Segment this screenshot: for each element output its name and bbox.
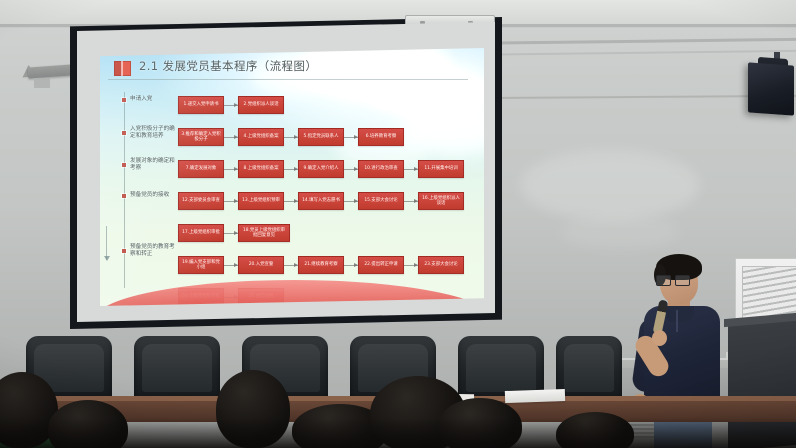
flow-node: 7.确定发展对象 <box>178 160 224 178</box>
flow-row-0: 1.递交入党申请书 2.党组织派人谈话 <box>178 96 284 114</box>
flow-node: 14.填写入党志愿书 <box>298 192 344 210</box>
chair <box>134 336 220 402</box>
photo-stage: 2.1 发展党员基本程序（流程图） 申请入党 入党积极分子的确定和教育培养 发展… <box>0 0 796 448</box>
flow-node: 13.上级党组织预审 <box>238 192 284 210</box>
flow-node: 23.支部大会讨论 <box>418 256 464 274</box>
flow-node: 20.入党宣誓 <box>238 256 284 274</box>
stage-down-arrow-icon <box>106 226 107 260</box>
flow-arrow-icon <box>224 169 238 170</box>
flow-node: 2.党组织派人谈话 <box>238 96 284 114</box>
flow-node: 3.推荐和确定入党积极分子 <box>178 128 224 146</box>
flow-arrow-icon <box>224 265 238 266</box>
flow-node: 10.进行政治审查 <box>358 160 404 178</box>
flow-node: 21.继续教育考察 <box>298 256 344 274</box>
stage-bullet-icon <box>122 249 126 253</box>
stage-label: 发展对象的确定和考察 <box>130 158 176 172</box>
flow-node: 8.上级党组织备案 <box>238 160 284 178</box>
stage-bullet-icon <box>122 131 126 135</box>
stage-item-1: 入党积极分子的确定和教育培养 <box>124 126 176 140</box>
presenter-hand <box>652 330 667 346</box>
title-divider <box>108 79 468 80</box>
flow-arrow-icon <box>344 265 358 266</box>
presenter-placket <box>676 310 678 332</box>
flowchart: 1.递交入党申请书 2.党组织派人谈话 3.推荐和确定入党积极分子 4.上级党组… <box>178 92 478 302</box>
presenter-collar <box>664 306 694 322</box>
stage-item-0: 申请入党 <box>124 96 176 103</box>
flow-row-4: 17.上级党组织审批 18.党员上级党组织审批回复意见 <box>178 224 290 242</box>
flow-row-5: 19.编入党支部和党小组 20.入党宣誓 21.继续教育考察 22.提出转正申请… <box>178 256 464 274</box>
papers-on-table <box>505 389 565 403</box>
flow-arrow-icon <box>224 233 238 234</box>
stage-bullet-icon <box>122 98 126 102</box>
slide-title: 2.1 发展党员基本程序（流程图） <box>139 58 317 74</box>
flow-arrow-icon <box>284 201 298 202</box>
flow-row-2: 7.确定发展对象 8.上级党组织备案 9.确定入党介绍人 10.进行政治审查 1… <box>178 160 464 178</box>
stage-label: 申请入党 <box>130 96 176 103</box>
flow-arrow-icon <box>344 169 358 170</box>
flow-node: 16.上级党组织派人谈话 <box>418 192 464 210</box>
flow-node: 9.确定入党介绍人 <box>298 160 344 178</box>
party-flag-logo-icon <box>114 61 131 76</box>
flow-node: 19.编入党支部和党小组 <box>178 256 224 274</box>
stage-label: 预备党员的接收 <box>130 192 176 199</box>
flow-arrow-icon <box>284 137 298 138</box>
flow-node: 12.支部委员会审查 <box>178 192 224 210</box>
flow-node: 6.培养教育考察 <box>358 128 404 146</box>
flow-node: 1.递交入党申请书 <box>178 96 224 114</box>
stage-label: 预备党员的教育考察和转正 <box>130 244 176 258</box>
chair <box>556 336 622 402</box>
flow-arrow-icon <box>224 105 238 106</box>
stage-bullet-icon <box>122 194 126 198</box>
flow-node: 15.支部大会讨论 <box>358 192 404 210</box>
flow-node: 4.上级党组织备案 <box>238 128 284 146</box>
flow-arrow-icon <box>404 201 418 202</box>
wall-hook-plate <box>34 78 50 88</box>
flow-row-3: 12.支部委员会审查 13.上级党组织预审 14.填写入党志愿书 15.支部大会… <box>178 192 464 210</box>
flow-node: 11.开展集中培训 <box>418 160 464 178</box>
flow-row-1: 3.推荐和确定入党积极分子 4.上级党组织备案 5.指定党员联系人 6.培养教育… <box>178 128 404 146</box>
wall-highlight <box>520 150 700 220</box>
flow-node: 18.党员上级党组织审批回复意见 <box>238 224 290 242</box>
flow-node: 17.上级党组织审批 <box>178 224 224 242</box>
stage-item-2: 发展对象的确定和考察 <box>124 158 176 172</box>
stage-item-3: 预备党员的接收 <box>124 192 176 199</box>
flow-node: 22.提出转正申请 <box>358 256 404 274</box>
stage-item-4: 预备党员的教育考察和转正 <box>124 244 176 258</box>
stage-axis <box>124 92 125 288</box>
flow-arrow-icon <box>404 169 418 170</box>
stage-bullet-icon <box>122 163 126 167</box>
wall-speaker <box>748 62 794 115</box>
flow-arrow-icon <box>224 137 238 138</box>
flow-arrow-icon <box>224 201 238 202</box>
eyeglasses-icon <box>656 275 690 284</box>
stage-label: 入党积极分子的确定和教育培养 <box>130 126 176 140</box>
flow-arrow-icon <box>344 201 358 202</box>
projected-slide: 2.1 发展党员基本程序（流程图） 申请入党 入党积极分子的确定和教育培养 发展… <box>100 48 484 306</box>
flow-arrow-icon <box>284 169 298 170</box>
flow-node: 5.指定党员联系人 <box>298 128 344 146</box>
flow-arrow-icon <box>284 265 298 266</box>
flow-arrow-icon <box>344 137 358 138</box>
flow-arrow-icon <box>404 265 418 266</box>
foreground-shadow <box>0 418 796 448</box>
wall-highlight-2 <box>560 215 680 249</box>
